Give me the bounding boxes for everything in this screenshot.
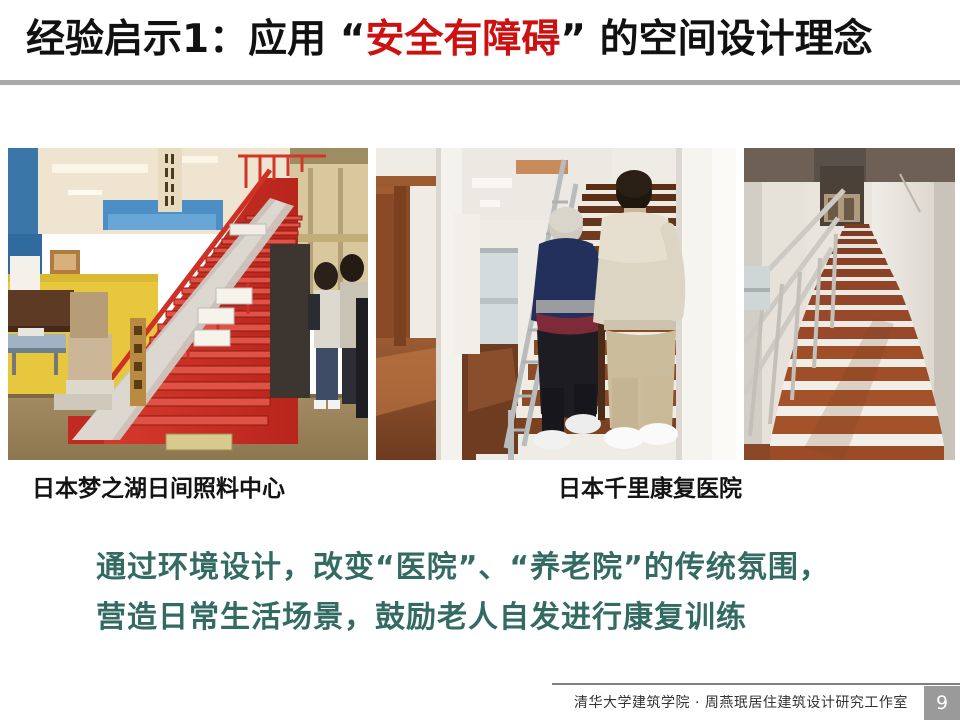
photo-red-staircase-graphic (8, 148, 368, 460)
page-number-badge: 9 (924, 686, 960, 720)
page-title: 经验启示1：应用 “安全有障碍” 的空间设计理念 (26, 20, 873, 59)
footer-divider (552, 683, 960, 685)
statement-line-1: 通过环境设计，改变“医院”、“养老院”的传统氛围， (0, 543, 960, 593)
title-suffix: ” 的空间设计理念 (560, 17, 872, 62)
statement-line-2: 营造日常生活场景，鼓励老人自发进行康复训练 (0, 593, 960, 643)
photo-rehab-hospital-stairs (376, 148, 736, 460)
title-highlight: 安全有障碍 (365, 17, 560, 62)
photo-red-staircase-day-care (8, 148, 368, 460)
photo-rehab-hospital-graphic (376, 148, 736, 460)
footer-organization: 清华大学建筑学院 · 周燕珉居住建筑设计研究工作室 (574, 692, 908, 712)
title-divider (0, 80, 960, 85)
slide-title-bar: 经验启示1：应用 “安全有障碍” 的空间设计理念 (0, 0, 960, 78)
statement-block: 通过环境设计，改变“医院”、“养老院”的传统氛围， 营造日常生活场景，鼓励老人自… (0, 543, 960, 643)
title-prefix: 经验启示1：应用 “ (26, 17, 365, 62)
photo-caption-left: 日本梦之湖日间照料中心 (32, 478, 285, 501)
photo-narrow-staircase-graphic (744, 148, 955, 460)
photo-row (0, 148, 960, 460)
photo-caption-right: 日本千里康复医院 (558, 478, 742, 501)
photo-narrow-wood-staircase (744, 148, 955, 460)
